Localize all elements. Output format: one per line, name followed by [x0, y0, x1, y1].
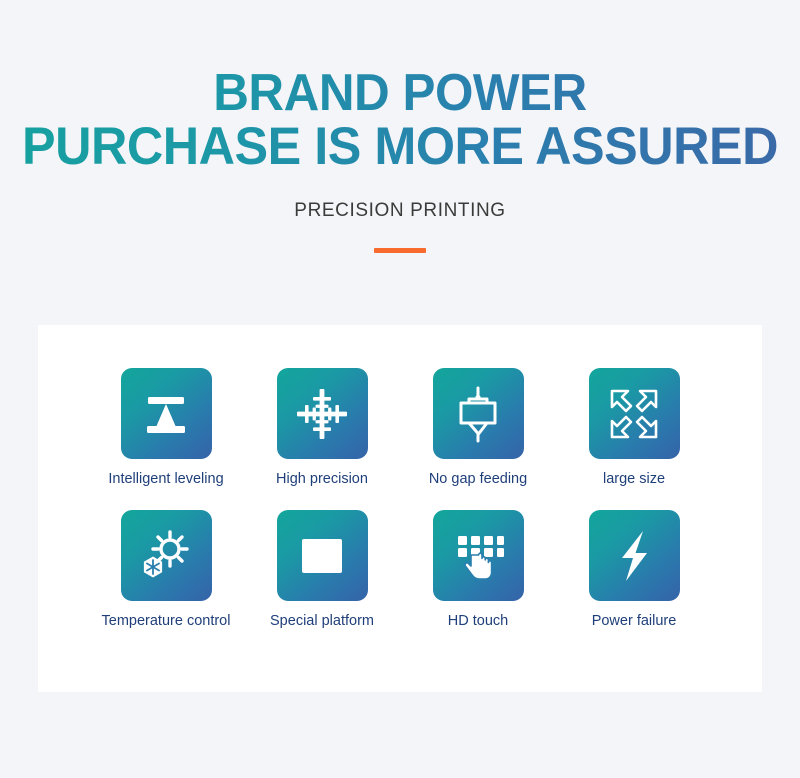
feature-label: large size — [603, 471, 665, 487]
lightning-bolt-icon — [589, 510, 680, 601]
feature-label: HD touch — [448, 613, 508, 629]
expand-arrows-icon — [589, 368, 680, 459]
feature-special-platform[interactable]: Special platform — [244, 510, 400, 629]
headline-line-1: BRAND POWER — [20, 66, 780, 120]
leveling-anvil-icon — [121, 368, 212, 459]
feature-hd-touch[interactable]: HD touch — [400, 510, 556, 629]
feature-label: Power failure — [592, 613, 677, 629]
features-card: Intelligent leveling — [38, 325, 762, 692]
feature-intelligent-leveling[interactable]: Intelligent leveling — [88, 368, 244, 487]
feature-label: Temperature control — [102, 613, 231, 629]
features-row-2: Temperature control Special platform — [38, 510, 762, 629]
divider-container — [0, 248, 800, 253]
orange-divider-bar — [374, 248, 426, 253]
features-row-1: Intelligent leveling — [38, 368, 762, 487]
promo-banner: BRAND POWER PURCHASE IS MORE ASSURED PRE… — [0, 0, 800, 778]
sun-snowflake-icon — [121, 510, 212, 601]
extruder-nozzle-icon — [433, 368, 524, 459]
features-grid: Intelligent leveling — [38, 325, 762, 692]
feature-no-gap-feeding[interactable]: No gap feeding — [400, 368, 556, 487]
crosshair-reticle-icon — [277, 368, 368, 459]
feature-label: High precision — [276, 471, 368, 487]
feature-high-precision[interactable]: High precision — [244, 368, 400, 487]
touch-hand-grid-icon — [433, 510, 524, 601]
feature-label: Intelligent leveling — [108, 471, 223, 487]
feature-temperature-control[interactable]: Temperature control — [88, 510, 244, 629]
feature-label: No gap feeding — [429, 471, 527, 487]
feature-large-size[interactable]: large size — [556, 368, 712, 487]
headline-line-2: PURCHASE IS MORE ASSURED — [20, 120, 780, 174]
subtitle: PRECISION PRINTING — [0, 200, 800, 222]
feature-power-failure[interactable]: Power failure — [556, 510, 712, 629]
build-platform-icon — [277, 510, 368, 601]
feature-label: Special platform — [270, 613, 374, 629]
banner-header: BRAND POWER PURCHASE IS MORE ASSURED PRE… — [0, 0, 800, 253]
